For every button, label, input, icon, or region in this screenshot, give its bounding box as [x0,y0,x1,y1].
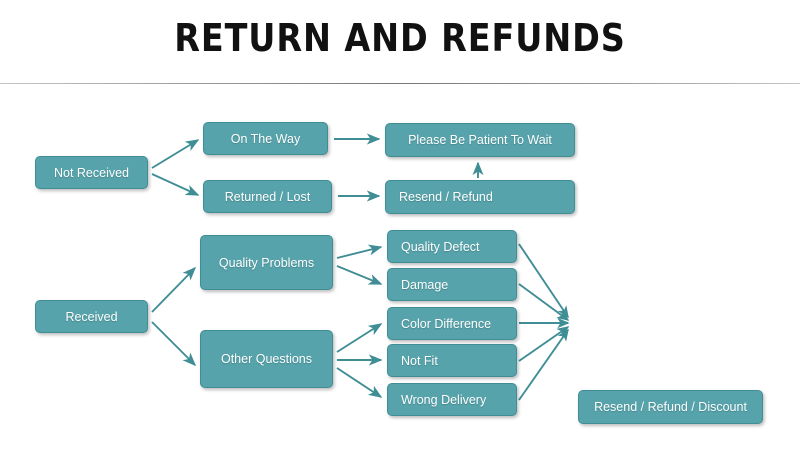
edge-not-fit-to-resend-refund-discount [519,327,568,361]
node-not-fit[interactable]: Not Fit [387,344,517,377]
page-title: RETURN AND REFUNDS [48,16,752,60]
node-color-difference[interactable]: Color Difference [387,307,517,340]
node-resend-refund[interactable]: Resend / Refund [385,180,575,214]
node-quality-problems[interactable]: Quality Problems [200,235,333,290]
node-resend-refund-discount[interactable]: Resend / Refund / Discount [578,390,763,424]
edge-wrong-delivery-to-resend-refund-discount [519,330,568,400]
node-not-received[interactable]: Not Received [35,156,148,189]
edge-not-received-to-on-the-way [152,140,198,168]
node-damage[interactable]: Damage [387,268,517,301]
edge-damage-to-resend-refund-discount [519,284,568,320]
node-returned-lost[interactable]: Returned / Lost [203,180,332,213]
header-bar: RETURN AND REFUNDS [0,0,800,84]
node-wrong-delivery[interactable]: Wrong Delivery [387,383,517,416]
node-other-questions[interactable]: Other Questions [200,330,333,388]
edge-received-to-quality-problems [152,268,195,312]
node-please-be-patient[interactable]: Please Be Patient To Wait [385,123,575,157]
edge-other-questions-to-wrong-delivery [337,368,381,397]
edge-quality-problems-to-damage [337,266,381,284]
node-on-the-way[interactable]: On The Way [203,122,328,155]
edge-not-received-to-returned-lost [152,174,198,195]
flowchart-canvas: Not Received On The Way Returned / Lost … [0,84,800,450]
edge-quality-defect-to-resend-refund-discount [519,244,568,317]
edge-received-to-other-questions [152,322,195,365]
edge-quality-problems-to-quality-defect [337,247,381,258]
node-quality-defect[interactable]: Quality Defect [387,230,517,263]
node-received[interactable]: Received [35,300,148,333]
edge-other-questions-to-color-difference [337,324,381,352]
